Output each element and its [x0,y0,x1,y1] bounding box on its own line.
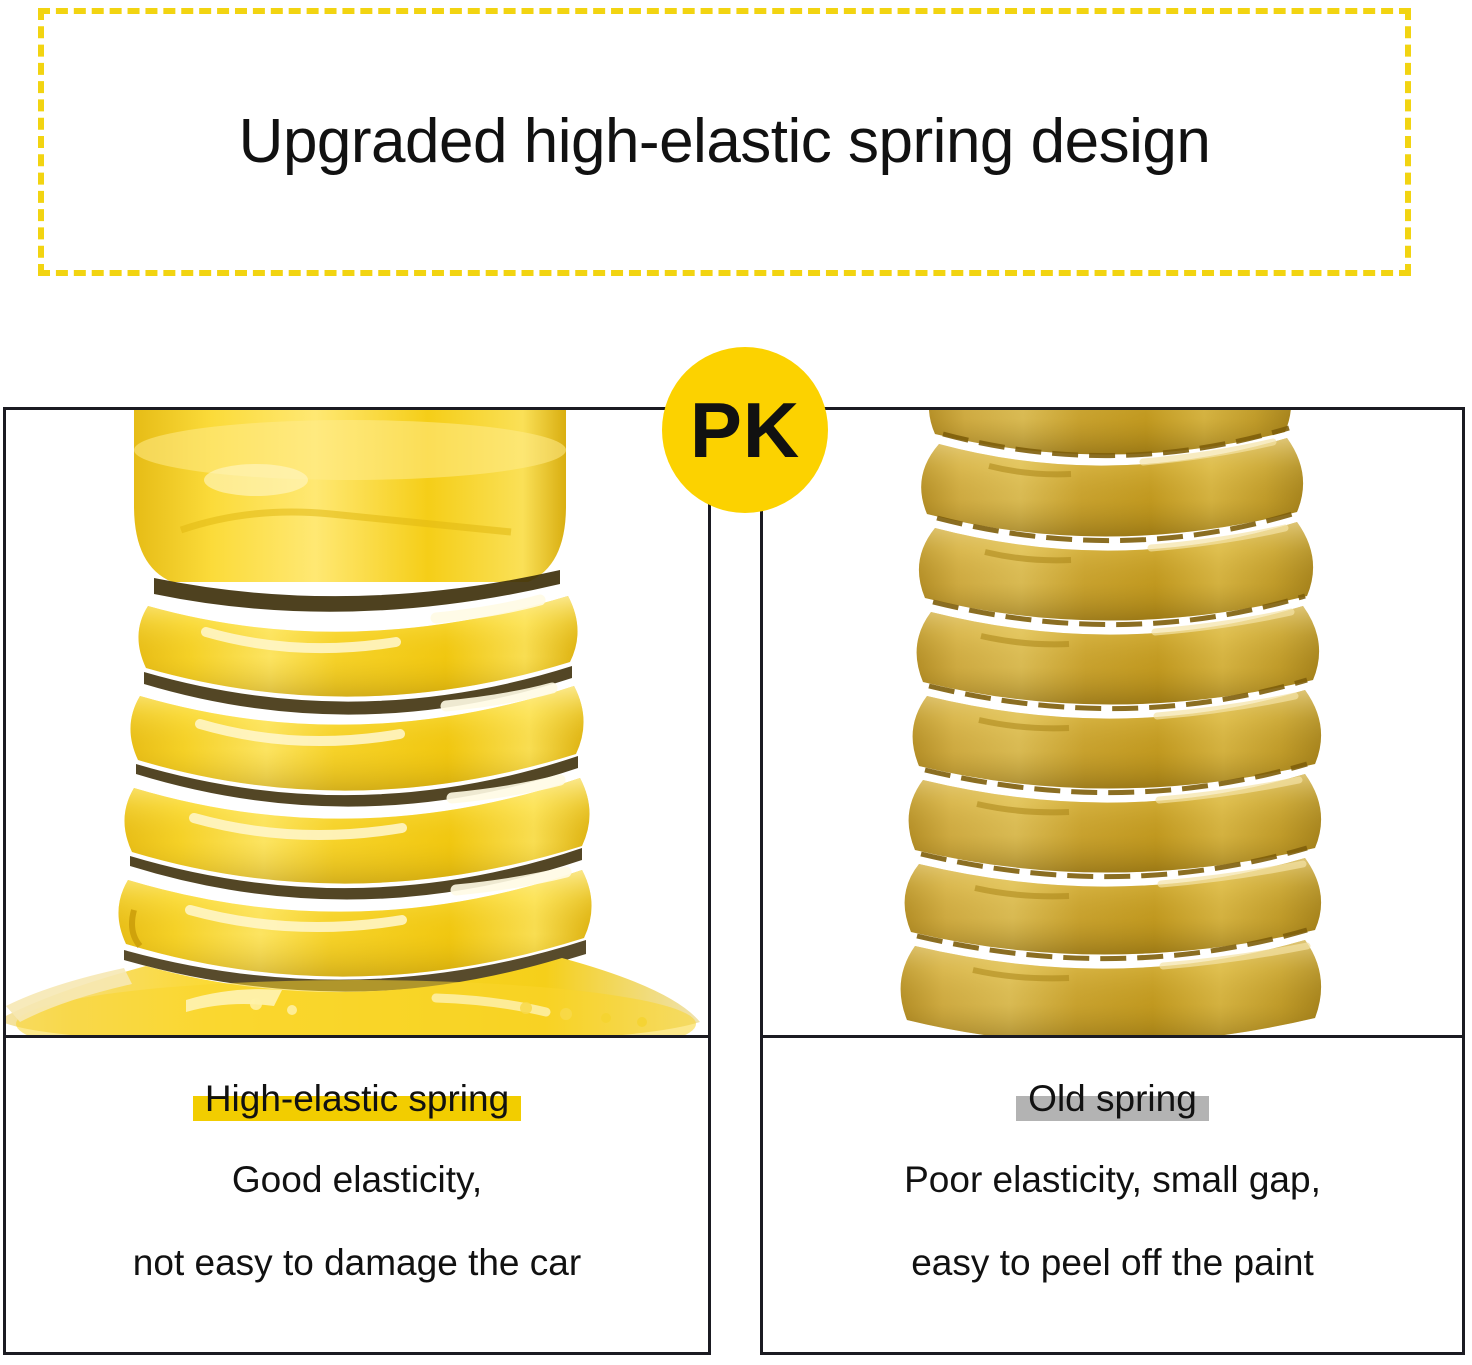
old-spring-coils [901,410,1321,1035]
left-spring-photo [6,410,708,1035]
right-caption-line-2: easy to peel off the paint [911,1244,1314,1281]
right-heading: Old spring [1016,1080,1209,1117]
right-caption: Old spring Poor elasticity, small gap, e… [763,1038,1462,1352]
right-caption-line-1: Poor elasticity, small gap, [904,1161,1321,1198]
high-elastic-spring-illustration [6,410,708,1035]
right-heading-wrap: Old spring [1016,1080,1209,1117]
right-spring-photo [763,410,1462,1035]
left-caption: High-elastic spring Good elasticity, not… [6,1038,708,1352]
pk-badge: PK [662,347,828,513]
left-heading: High-elastic spring [193,1080,521,1117]
product-comparison-graphic: Upgraded high-elastic spring design [0,0,1472,1365]
left-caption-line-2: not easy to damage the car [133,1244,581,1281]
comparison-panel-left: High-elastic spring Good elasticity, not… [3,407,711,1355]
comparison-panel-right: Old spring Poor elasticity, small gap, e… [760,407,1465,1355]
left-caption-line-1: Good elasticity, [232,1161,482,1198]
title-banner: Upgraded high-elastic spring design [38,8,1411,276]
page-title: Upgraded high-elastic spring design [239,111,1211,173]
old-spring-illustration [763,410,1462,1035]
pk-label: PK [690,391,800,469]
left-heading-wrap: High-elastic spring [193,1080,521,1117]
